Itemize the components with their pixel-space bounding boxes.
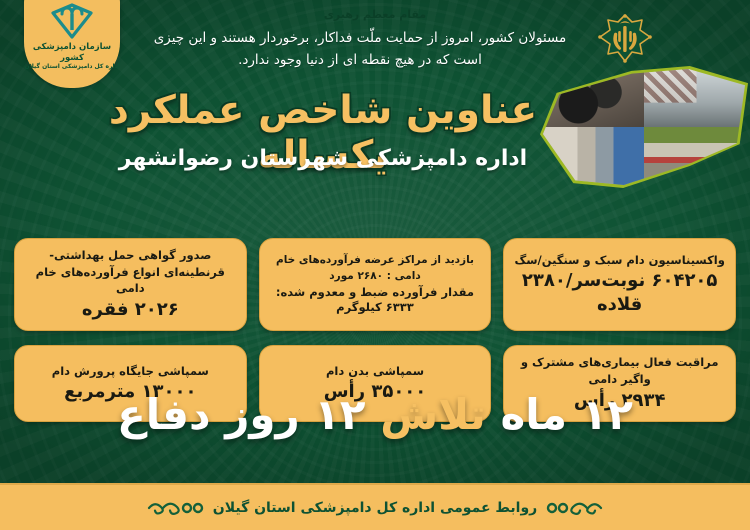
photo-livestock-cow xyxy=(543,69,644,127)
photo-collage xyxy=(540,66,748,188)
floral-flourish-icon xyxy=(545,498,603,518)
footer-text: روابط عمومی اداره کل دامپزشکی استان گیلا… xyxy=(213,500,537,516)
page-subtitle: اداره دامپزشکی شهرستان رضوانشهر xyxy=(88,146,558,171)
stat-label: سمپاشی بدن دام xyxy=(326,363,424,380)
footer-bar: روابط عمومی اداره کل دامپزشکی استان گیلا… xyxy=(0,483,750,530)
logo-org-line1: سازمان دامپزشکی کشور xyxy=(24,42,120,63)
campaign-slogan: ۱۲ ماه تلاش ۱۲ روز دفاع xyxy=(0,392,750,438)
stat-label: بازدید از مراکز عرضه فرآورده‌های خام دام… xyxy=(270,253,481,283)
stat-label: صدور گواهی حمل بهداشتی- قرنطینه‌ای انواع… xyxy=(25,247,236,297)
slogan-part2: ۱۲ روز دفاع xyxy=(117,390,380,439)
stat-value: ۲۰۲۶ فقره xyxy=(82,298,179,322)
stat-label: واکسیناسیون دام سبک و سنگین/سگ xyxy=(514,252,724,269)
stat-value: مقدار فرآورده ضبط و معدوم شده: ۶۳۳۳ کیلو… xyxy=(270,285,481,316)
poster-root: سازمان دامپزشکی کشور اداره کل دامپزشکی ا… xyxy=(0,0,750,530)
logo-org-line2: اداره کل دامپزشکی استان گیلان xyxy=(24,63,120,71)
stat-card-health-quarantine-certificates[interactable]: صدور گواهی حمل بهداشتی- قرنطینه‌ای انواع… xyxy=(14,238,247,331)
stat-card-raw-product-center-visits[interactable]: بازدید از مراکز عرضه فرآورده‌های خام دام… xyxy=(259,238,492,331)
stat-label: مراقبت فعال بیماری‌های مشترک و واگیر دام… xyxy=(514,354,725,387)
floral-flourish-icon-mirrored xyxy=(147,498,205,518)
photo-inspector-shop xyxy=(543,127,644,185)
statistics-row-1: واکسیناسیون دام سبک و سنگین/سگ ۶۰۴۲۰۵ نو… xyxy=(14,238,736,331)
photo-street-market xyxy=(644,127,745,185)
leader-quote: مسئولان کشور، امروز از حمایت ملّت فداکار… xyxy=(150,28,570,72)
stat-value: ۶۰۴۲۰۵ نوبت‌سر/۲۳۸۰ قلاده xyxy=(514,269,725,318)
slogan-part1: ۱۲ ماه xyxy=(486,390,633,439)
stat-card-vaccination[interactable]: واکسیناسیون دام سبک و سنگین/سگ ۶۰۴۲۰۵ نو… xyxy=(503,238,736,331)
logo-caption: سازمان دامپزشکی کشور اداره کل دامپزشکی ا… xyxy=(24,42,120,71)
photo-inspector-documents xyxy=(644,69,745,127)
stat-label: سمپاشی جایگاه پرورش دام xyxy=(52,363,209,380)
slogan-highlight: تلاش xyxy=(380,390,486,439)
iran-national-emblem-icon xyxy=(594,12,656,74)
